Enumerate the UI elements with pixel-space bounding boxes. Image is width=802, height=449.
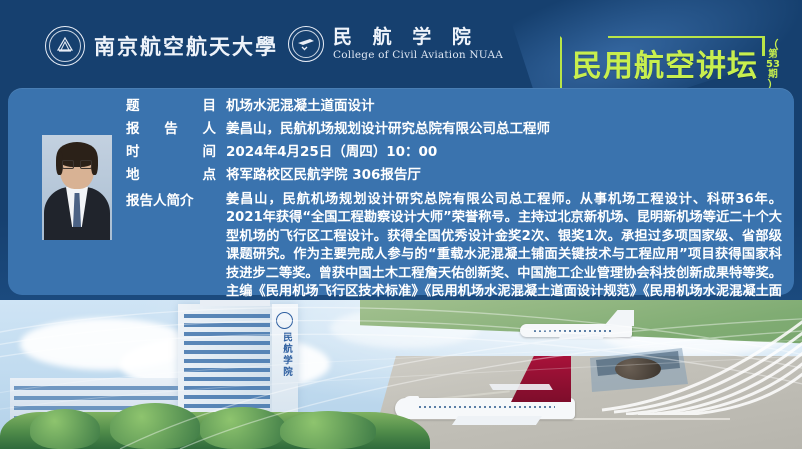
aircraft-foreground (395, 372, 605, 432)
college-logo-block: 民 航 学 院 College of Civil Aviation NUAA (288, 26, 503, 62)
label-title: 题 目 (126, 96, 226, 117)
info-rows: 题 目 机场水泥混凝土道面设计 报 告 人 姜昌山，民航机场规划设计研究总院有限… (126, 96, 782, 322)
tree (280, 411, 376, 449)
wing-far (489, 384, 553, 390)
building-emblem-icon (276, 312, 293, 329)
badge-title: 民用航空讲坛 (572, 41, 758, 85)
badge-issue-number: （ 第 53 期 ） (758, 36, 788, 94)
value-title: 机场水泥混凝土道面设计 (226, 96, 782, 117)
value-time: 2024年4月25日（周四）10：00 (226, 142, 782, 163)
info-panel: 题 目 机场水泥混凝土道面设计 报 告 人 姜昌山，民航机场规划设计研究总院有限… (8, 88, 794, 295)
forum-badge: 民用航空讲坛 （ 第 53 期 ） (560, 36, 785, 94)
cabin-windows (409, 406, 555, 408)
civil-aviation-college-building: 民航学院 (178, 304, 298, 424)
aircraft-background (520, 316, 640, 342)
college-name-en: College of Civil Aviation NUAA (333, 50, 503, 61)
value-speaker: 姜昌山，民航机场规划设计研究总院有限公司总工程师 (226, 119, 782, 140)
value-location: 将军路校区民航学院 306报告厅 (226, 165, 782, 186)
info-row-speaker: 报 告 人 姜昌山，民航机场规划设计研究总院有限公司总工程师 (126, 119, 782, 140)
wing (452, 416, 542, 425)
campus-airport-banner: 民航学院 (0, 300, 802, 449)
building-side-panel: 民航学院 (272, 304, 298, 424)
portrait-glasses (62, 160, 92, 169)
wing (559, 334, 606, 339)
ground-equipment (615, 358, 661, 380)
building-roof (200, 300, 270, 306)
university-name: 南京航空航天大學 (94, 31, 278, 61)
poster-header: 南京航空航天大學 民 航 学 院 College of Civil Aviati… (0, 18, 802, 88)
info-row-location: 地 点 将军路校区民航学院 306报告厅 (126, 165, 782, 186)
label-location: 地 点 (126, 165, 226, 186)
tree (110, 403, 200, 449)
tree (30, 409, 100, 449)
college-name-cn: 民 航 学 院 (333, 28, 503, 47)
speaker-portrait (42, 135, 112, 240)
label-bio: 报告人简介 (126, 191, 226, 212)
info-row-title: 题 目 机场水泥混凝土道面设计 (126, 96, 782, 117)
tree (200, 407, 286, 449)
building-label: 民航学院 (277, 332, 293, 378)
badge-issue-stack: （ 第 53 期 ） (766, 40, 780, 90)
label-time: 时 间 (126, 142, 226, 163)
nose (401, 396, 419, 418)
nuaa-seal-icon (45, 26, 85, 66)
cca-seal-glyph (289, 27, 323, 61)
info-row-time: 时 间 2024年4月25日（周四）10：00 (126, 142, 782, 163)
college-name-block: 民 航 学 院 College of Civil Aviation NUAA (333, 28, 503, 61)
label-speaker: 报 告 人 (126, 119, 226, 140)
cca-seal-icon (288, 26, 324, 62)
portrait-hair-right (91, 151, 98, 175)
lecture-poster: 南京航空航天大學 民 航 学 院 College of Civil Aviati… (0, 0, 802, 449)
nuaa-seal-glyph (46, 27, 84, 65)
cabin-windows (534, 330, 612, 332)
nuaa-logo-block: 南京航空航天大學 (45, 26, 278, 66)
